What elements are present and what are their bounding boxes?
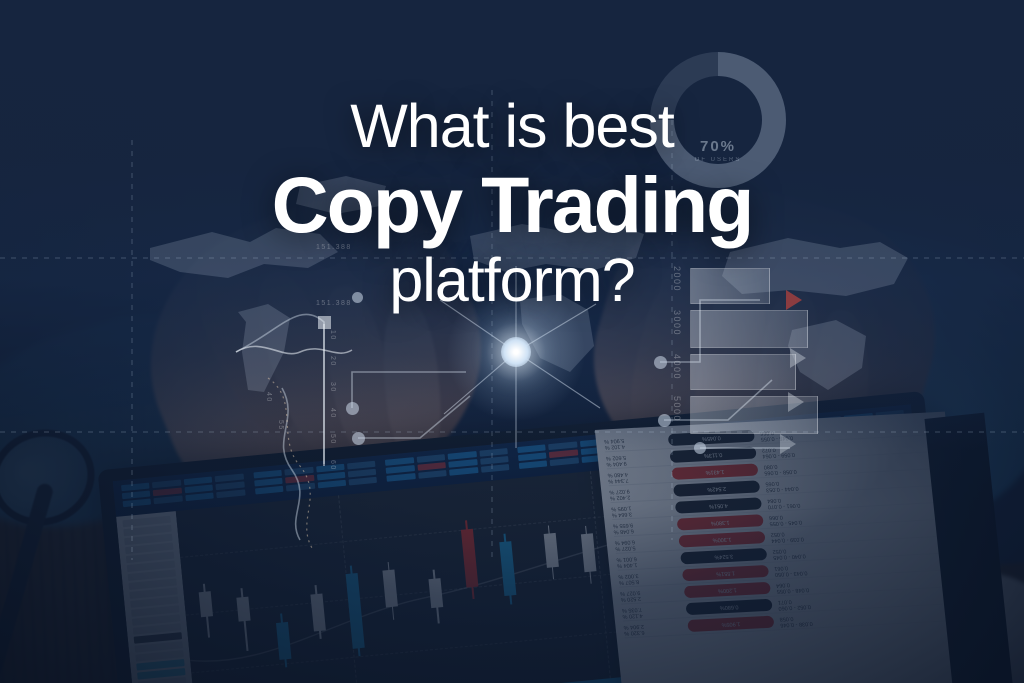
headline-line-2: Copy Trading (0, 165, 1024, 244)
headline-line-1: What is best (0, 96, 1024, 157)
promotional-banner: 4.102 % 5.904 %0.045%0.045 - 0.055 0.066… (0, 0, 1024, 683)
headline-line-3: platform? (0, 250, 1024, 311)
headline-block: What is best Copy Trading platform? (0, 96, 1024, 311)
